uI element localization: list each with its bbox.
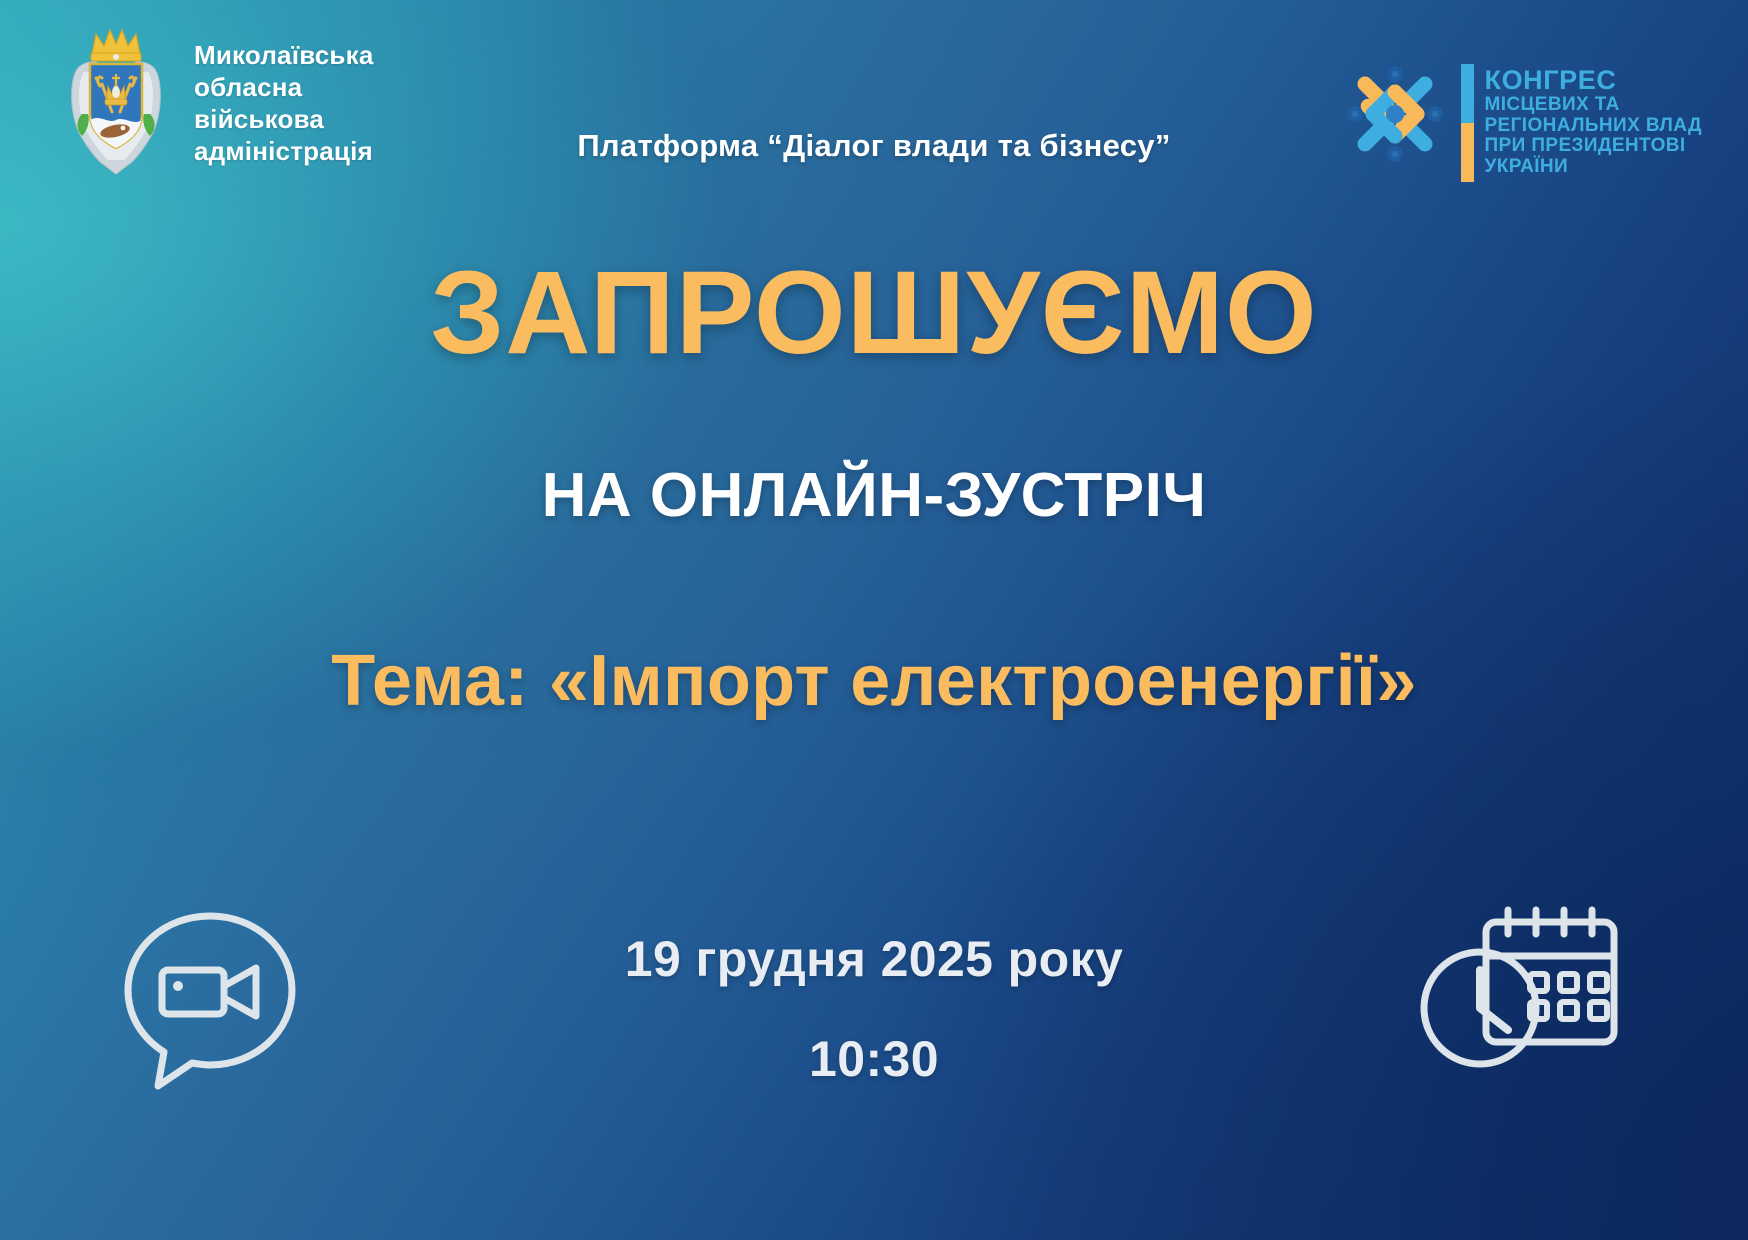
congress-line-2: МІСЦЕВИХ ТА [1484,95,1702,116]
congress-line-5: УКРАЇНИ [1484,157,1702,178]
invitation-poster: Миколаївська обласна військова адміністр… [0,0,1748,1240]
meeting-topic: Тема: «Імпорт електроенергії» [0,640,1748,722]
poster-header: Миколаївська обласна військова адміністр… [0,0,1748,210]
congress-flag-bar [1461,64,1474,182]
congress-title-text: КОНГРЕС МІСЦЕВИХ ТА РЕГІОНАЛЬНИХ ВЛАД ПР… [1484,66,1702,177]
congress-line-4: ПРИ ПРЕЗИДЕНТОВІ [1484,136,1702,157]
subheadline-online-meeting: НА ОНЛАЙН-ЗУСТРІЧ [0,460,1748,531]
mykolaiv-oblast-coat-of-arms-icon [60,28,172,178]
headline-invitation: ЗАПРОШУЄМО [0,245,1748,381]
oblast-administration-name: Миколаївська обласна військова адміністр… [194,39,374,168]
congress-flower-mark-icon [1339,58,1451,170]
congress-line-3: РЕГІОНАЛЬНИХ ВЛАД [1484,116,1702,137]
oblast-administration-block: Миколаївська обласна військова адміністр… [60,28,374,178]
clock-calendar-icon [1408,890,1638,1090]
congress-logo-block: КОНГРЕС МІСЦЕВИХ ТА РЕГІОНАЛЬНИХ ВЛАД ПР… [1339,58,1702,182]
congress-line-1: КОНГРЕС [1484,66,1702,95]
video-chat-bubble-icon [110,898,310,1098]
